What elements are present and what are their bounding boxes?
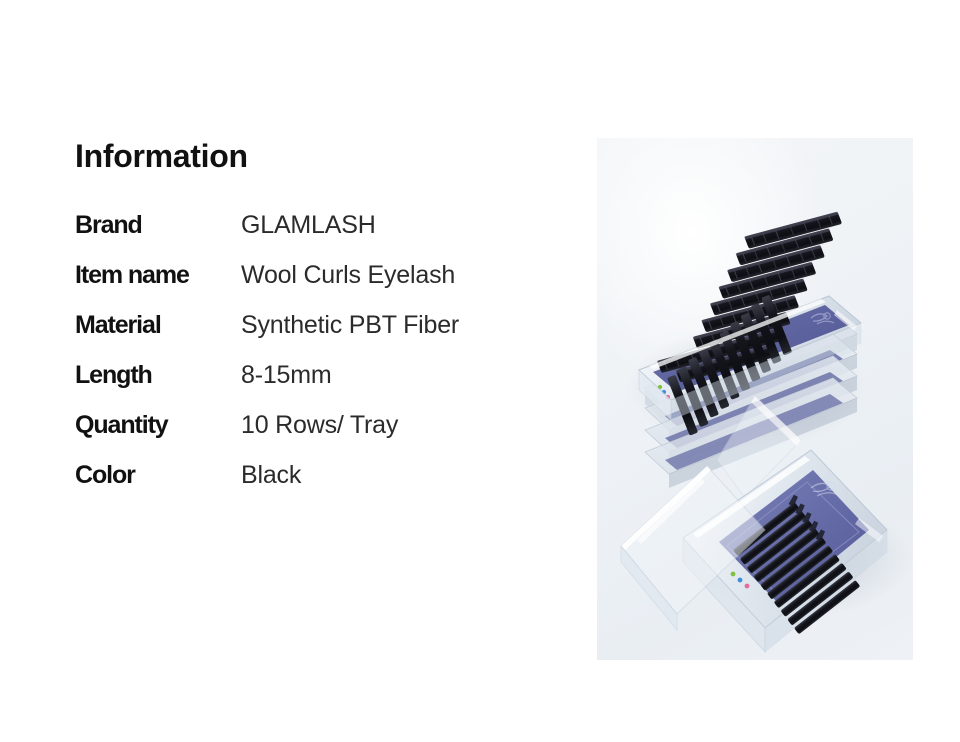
table-row: Brand GLAMLASH — [75, 211, 575, 261]
table-row: Item name Wool Curls Eyelash — [75, 261, 575, 311]
spec-label-length: Length — [75, 361, 241, 390]
lash-tray-illustration — [597, 138, 913, 660]
product-information-page: Information Brand GLAMLASH Item name Woo… — [0, 0, 960, 742]
product-photo — [597, 138, 913, 660]
spec-value-brand: GLAMLASH — [241, 211, 376, 240]
table-row: Material Synthetic PBT Fiber — [75, 311, 575, 361]
specification-table: Brand GLAMLASH Item name Wool Curls Eyel… — [75, 211, 575, 511]
information-panel: Information Brand GLAMLASH Item name Woo… — [75, 138, 575, 511]
table-row: Length 8-15mm — [75, 361, 575, 411]
spec-value-material: Synthetic PBT Fiber — [241, 311, 459, 340]
spec-value-item-name: Wool Curls Eyelash — [241, 261, 455, 290]
spec-value-length: 8-15mm — [241, 361, 332, 390]
table-row: Quantity 10 Rows/ Tray — [75, 411, 575, 461]
spec-label-material: Material — [75, 311, 241, 340]
spec-label-color: Color — [75, 461, 241, 490]
tray-stack — [622, 190, 882, 498]
spec-label-quantity: Quantity — [75, 411, 241, 440]
spec-value-color: Black — [241, 461, 301, 490]
table-row: Color Black — [75, 461, 575, 511]
spec-label-item-name: Item name — [75, 261, 241, 290]
spec-value-quantity: 10 Rows/ Tray — [241, 411, 398, 440]
page-title: Information — [75, 138, 575, 175]
spec-label-brand: Brand — [75, 211, 241, 240]
